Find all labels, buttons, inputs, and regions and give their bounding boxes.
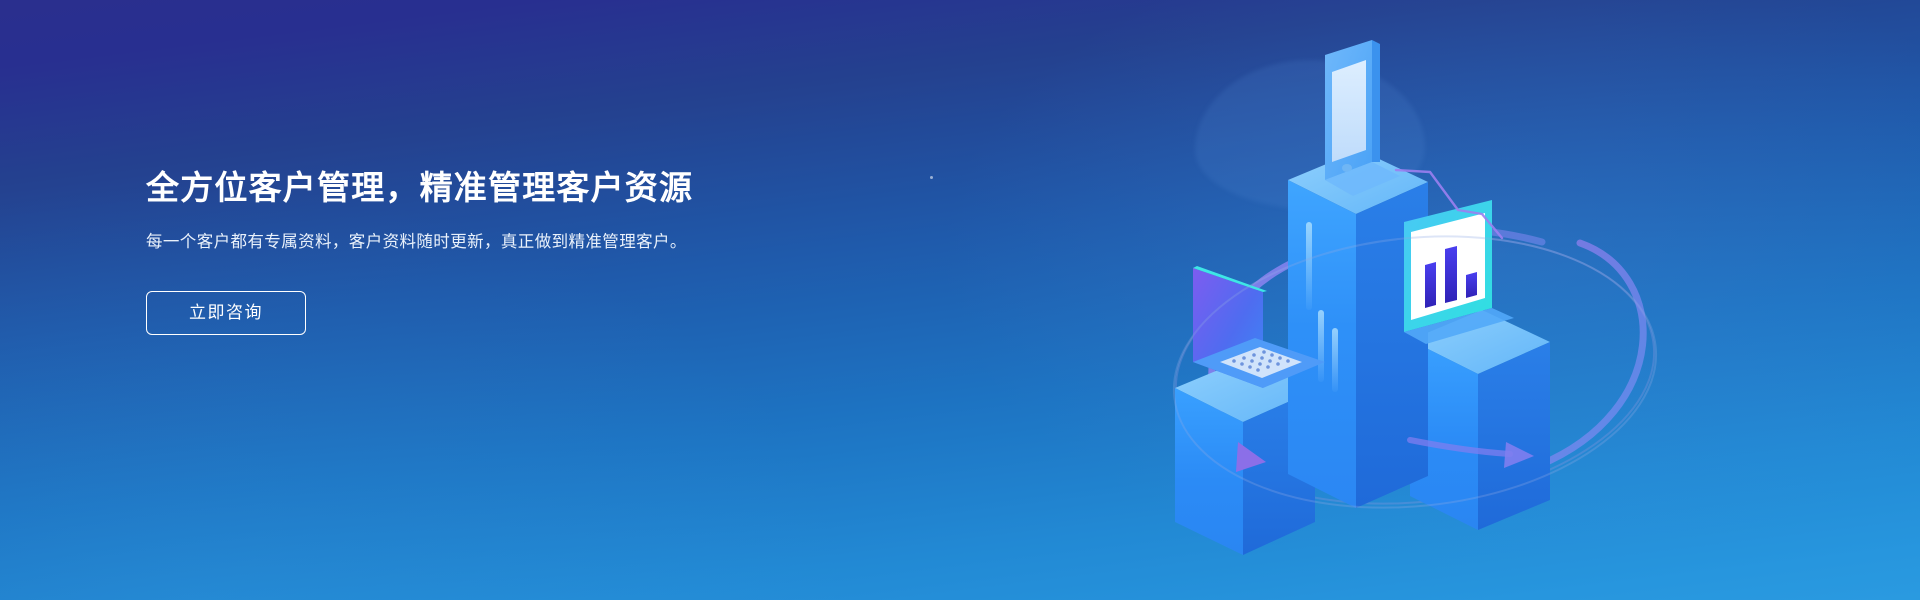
page-title: 全方位客户管理，精准管理客户资源: [146, 168, 766, 208]
hero-subtitle: 每一个客户都有专属资料，客户资料随时更新，真正做到精准管理客户。: [146, 230, 726, 256]
chart-bar-1: [1425, 262, 1436, 308]
pillar-glow-line: [1332, 328, 1338, 392]
sparkle-dot: [930, 176, 933, 179]
hero-banner: 全方位客户管理，精准管理客户资源 每一个客户都有专属资料，客户资料随时更新，真正…: [0, 0, 1920, 600]
orbit-arc-right: [1540, 243, 1643, 465]
hero-copy: 全方位客户管理，精准管理客户资源 每一个客户都有专属资料，客户资料随时更新，真正…: [146, 168, 766, 335]
pillar-glow-line: [1318, 310, 1324, 382]
chart-bar-3: [1466, 272, 1477, 298]
monitor-icon: [1404, 200, 1514, 344]
isometric-scene: [1110, 10, 1730, 590]
pillar-glow-line: [1306, 222, 1312, 310]
chart-bar-2: [1445, 246, 1457, 303]
consult-now-button[interactable]: 立即咨询: [146, 291, 306, 335]
tablet-icon: [1325, 40, 1400, 196]
hero-illustration: [1110, 10, 1730, 590]
